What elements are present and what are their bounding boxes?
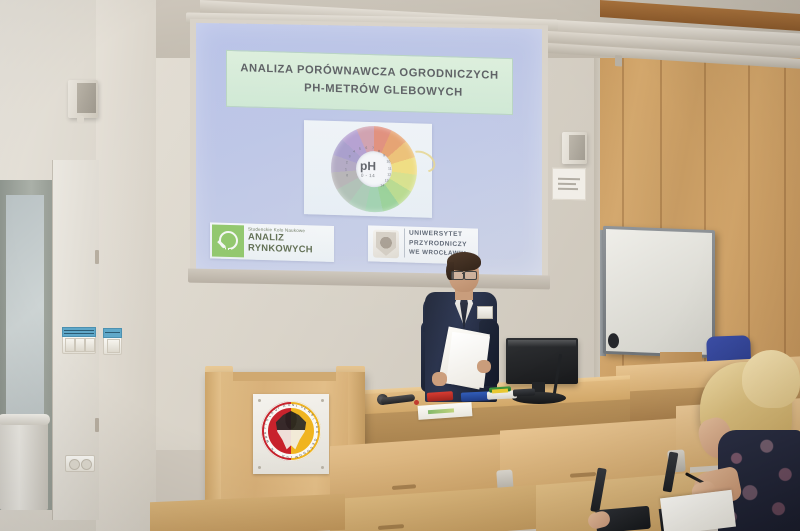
emblem-letter: N [292, 403, 295, 407]
speaker-grille [77, 83, 96, 113]
bin-lid [0, 414, 50, 425]
microphone-button[interactable] [414, 400, 419, 405]
logo-skn-analiz-rynkowych: Studenckie Koło Naukowe ANALIZ RYNKOWYCH [210, 222, 334, 262]
ph-scale-number: 10 [387, 160, 391, 164]
whiteboard-surface[interactable] [606, 229, 712, 355]
slide-title-box: ANALIZA PORÓWNAWCZA OGRODNICZYCH PH-METR… [226, 50, 513, 115]
ph-scale-number: 0 [346, 174, 348, 178]
ph-scale-number: 4 [353, 150, 355, 154]
ph-scale-number: 12 [387, 173, 391, 177]
wall-whiteboard[interactable] [603, 226, 715, 358]
emblem-letter: M [295, 454, 299, 458]
speaker-mount [77, 116, 84, 123]
emblem-letter: I [290, 455, 291, 459]
light-switch-single[interactable] [103, 336, 122, 355]
door-hinge [95, 418, 99, 432]
ph-scale-number: 2 [346, 161, 348, 165]
lectern-notch [233, 372, 336, 381]
presenter-right-hand [477, 360, 491, 373]
glasses-bridge-icon [462, 273, 465, 274]
ph-wheel-center: pH 0 - 14 01234567891011121314 [350, 150, 386, 187]
slide-title-line2: PH-METRÓW GLEBOWYCH [227, 80, 512, 100]
red-ph-meter[interactable] [427, 391, 454, 402]
ph-label: pH [360, 160, 376, 172]
emblem-letter: U [288, 403, 291, 407]
speaker-grille [569, 135, 585, 160]
power-outlet-double[interactable] [65, 455, 95, 472]
left-wall-return [96, 0, 156, 531]
ph-scale-number: 14 [380, 184, 384, 188]
ph-scale-number: 7 [372, 146, 374, 150]
ph-wheel-card: pH 0 - 14 01234567891011121314 [304, 120, 432, 218]
lectern-left-edge [205, 372, 221, 512]
glasses-right-lens-icon [464, 271, 477, 280]
emblem-letter: S [315, 431, 319, 433]
logo-green-square [212, 224, 244, 257]
ph-scale-number: 3 [349, 155, 351, 159]
ph-scale-number: 8 [378, 149, 380, 153]
presenter-left-hand [432, 372, 447, 386]
whiteboard-eraser[interactable] [608, 333, 619, 348]
logo-title-line2: RYNKOWYCH [248, 242, 331, 255]
ph-range-label: 0 - 14 [361, 173, 375, 178]
door-hinge [95, 250, 99, 264]
wall-speaker-left [68, 80, 98, 118]
waste-bin [0, 418, 48, 510]
light-switch-triple[interactable] [62, 335, 96, 354]
presenter-monitor[interactable] [506, 338, 578, 384]
emblem-letter: A [263, 432, 267, 435]
slide-title-line1: ANALIZA PORÓWNAWCZA OGRODNICZYCH [227, 62, 512, 82]
name-badge [477, 306, 493, 319]
ph-scale-number: 13 [385, 179, 389, 183]
emblem-letter: A [282, 404, 285, 408]
wall-speaker-right [562, 132, 587, 164]
lectern-emblem-plaque: UNIVERSITAS OECONOMICA IN WRATISLAVIA [253, 394, 329, 474]
ph-scale-number: 5 [359, 147, 361, 151]
university-crest-icon [373, 230, 399, 259]
university-emblem-icon: UNIVERSITAS OECONOMICA IN WRATISLAVIA [261, 401, 321, 461]
emblem-letter: C [286, 455, 289, 459]
dark-ph-meter[interactable] [513, 388, 535, 396]
ph-scale-number: 1 [345, 167, 347, 171]
ph-scale-number: 9 [383, 154, 385, 158]
switch-label-triple [62, 327, 96, 337]
ph-scale-number: 6 [365, 145, 367, 149]
ph-scale-number: 11 [388, 166, 392, 170]
magnifier-icon [219, 231, 238, 251]
lecture-hall-photo: ANALIZA PORÓWNAWCZA OGRODNICZYCH PH-METR… [0, 0, 800, 531]
projection-screen: ANALIZA PORÓWNAWCZA OGRODNICZYCH PH-METR… [196, 23, 542, 278]
switch-label-single [103, 328, 122, 338]
bench-seat-front-row-left [150, 494, 345, 531]
notice-sign [552, 168, 586, 201]
audience-member-hair-crown [742, 350, 800, 408]
